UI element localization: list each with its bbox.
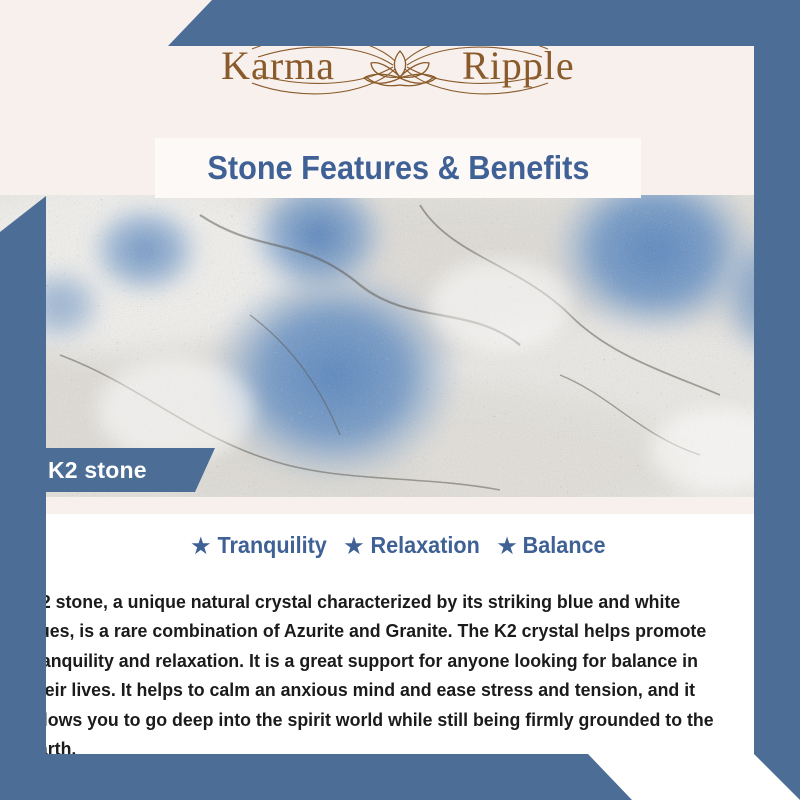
page-title: Stone Features & Benefits bbox=[207, 149, 589, 187]
star-icon: ★ bbox=[191, 534, 210, 559]
keyword-relaxation: Relaxation bbox=[371, 532, 480, 559]
brand-name-left: Karma bbox=[221, 43, 335, 88]
poster-canvas: Karma Ripple Stone Features & Benefits bbox=[0, 0, 800, 800]
star-icon: ★ bbox=[344, 534, 363, 559]
keyword-tranquility: Tranquility bbox=[218, 532, 327, 559]
star-icon: ★ bbox=[498, 534, 517, 559]
divider-strip bbox=[0, 497, 800, 514]
brand-name-right: Ripple bbox=[462, 43, 575, 88]
frame-border-right bbox=[754, 0, 800, 800]
keyword-balance: Balance bbox=[523, 532, 606, 559]
stone-caption-badge: K2 stone bbox=[0, 448, 215, 492]
title-banner: Stone Features & Benefits bbox=[155, 138, 641, 198]
benefit-keywords: ★Tranquility★Relaxation★Balance bbox=[0, 532, 800, 559]
stone-caption-label: K2 stone bbox=[0, 457, 147, 484]
stone-description: K2 stone, a unique natural crystal chara… bbox=[28, 587, 719, 764]
